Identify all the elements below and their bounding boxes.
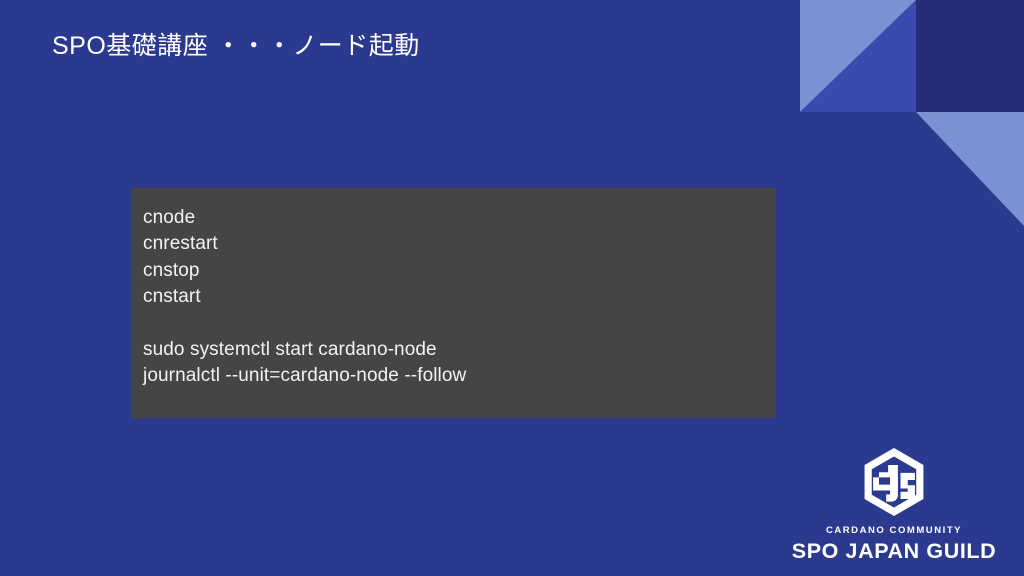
code-line: cnstop — [143, 258, 776, 284]
code-line: cnstart — [143, 284, 776, 310]
presentation-slide: SPO基礎講座 ・・・ノード起動 cnode cnrestart cnstop … — [0, 0, 1024, 576]
code-block: cnode cnrestart cnstop cnstart sudo syst… — [131, 188, 776, 418]
code-line: cnrestart — [143, 231, 776, 257]
code-line: sudo systemctl start cardano-node — [143, 337, 776, 363]
code-line: journalctl --unit=cardano-node --follow — [143, 363, 776, 389]
sjg-hexagon-monogram-icon — [861, 448, 927, 516]
light-blue-triangle-upper — [800, 0, 916, 112]
light-blue-triangle-lower-right — [916, 112, 1024, 226]
code-line: cnode — [143, 205, 776, 231]
logo-lockup: CARDANO COMMUNITY SPO JAPAN GUILD — [794, 448, 994, 564]
navy-corner-shape — [916, 0, 1024, 112]
logo-name: SPO JAPAN GUILD — [792, 539, 997, 564]
page-title: SPO基礎講座 ・・・ノード起動 — [52, 28, 420, 64]
medium-blue-triangle-lower — [800, 0, 916, 112]
code-line-spacer — [143, 311, 776, 337]
logo-tagline: CARDANO COMMUNITY — [826, 525, 962, 536]
decorative-geometry — [800, 0, 1024, 240]
